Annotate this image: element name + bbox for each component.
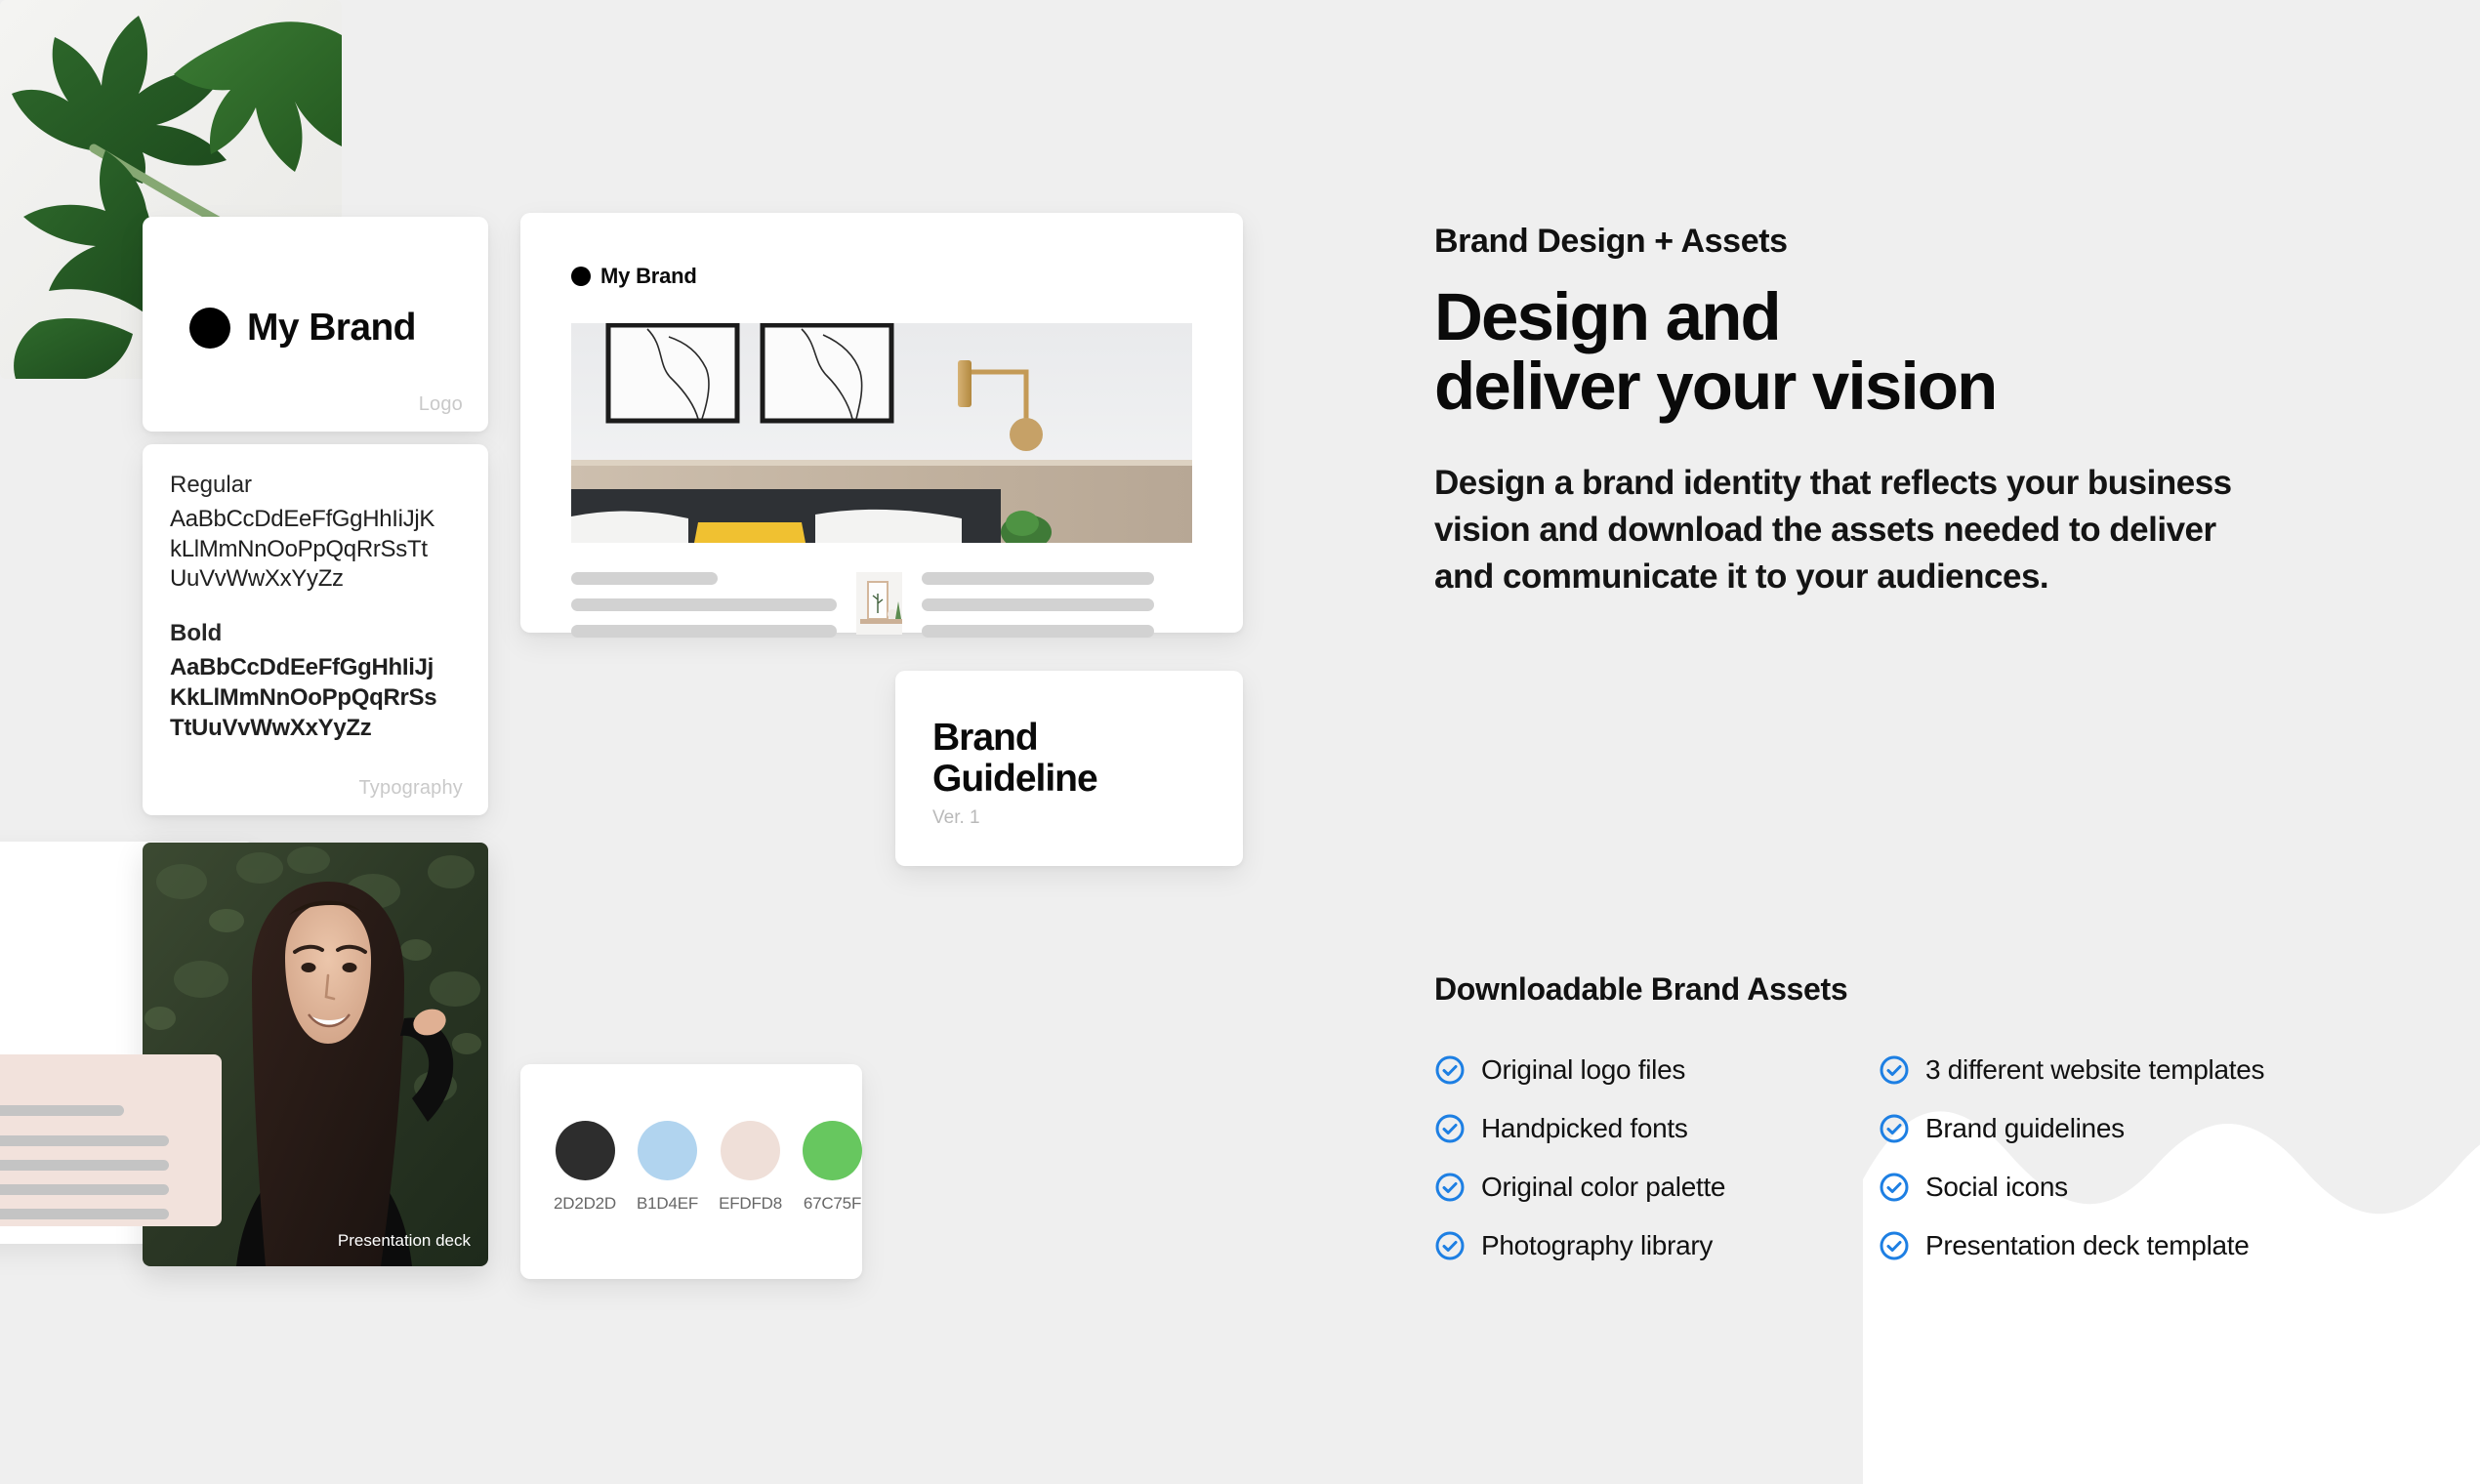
- placeholder-bar: [571, 625, 837, 638]
- swatch-item[interactable]: B1D4EF: [637, 1121, 698, 1214]
- guideline-version: Ver. 1: [932, 807, 980, 829]
- brand-guideline-card[interactable]: Brand Guideline Ver. 1: [895, 671, 1243, 866]
- placeholder-column-right: [922, 572, 1154, 638]
- headline-line-1: Design and: [1434, 282, 2391, 351]
- asset-label: Presentation deck template: [1925, 1230, 2250, 1261]
- guideline-title-line1: Brand: [932, 718, 1097, 759]
- subcopy-text: Design a brand identity that reflects yo…: [1434, 460, 2274, 600]
- specimen-line: KkLlMmNnOoPpQqRrSs: [170, 683, 469, 714]
- presentation-deck-pink-card: [0, 1054, 222, 1226]
- placeholder-bar: [0, 1209, 169, 1219]
- typography-card-label: Typography: [358, 777, 463, 800]
- asset-list-item[interactable]: 3 different website templates: [1879, 1054, 2420, 1086]
- swatch-item[interactable]: 67C75F: [803, 1121, 862, 1214]
- brand-circle-icon: [571, 267, 591, 286]
- color-swatch: [556, 1121, 615, 1180]
- typography-regular-label: Regular: [170, 472, 469, 499]
- page-root: My Brand Logo Regular AaBbCcDdEeFfGgHhIi…: [0, 0, 2480, 1484]
- swatch-hex-label: 2D2D2D: [554, 1194, 616, 1214]
- asset-label: 3 different website templates: [1925, 1054, 2264, 1086]
- check-circle-icon: [1879, 1172, 1910, 1203]
- asset-label: Social icons: [1925, 1172, 2068, 1203]
- swatch-item[interactable]: EFDFD8: [719, 1121, 782, 1214]
- swatch-item[interactable]: 2D2D2D: [554, 1121, 616, 1214]
- placeholder-bar: [922, 625, 1154, 638]
- asset-list-item[interactable]: Social icons: [1879, 1172, 2420, 1203]
- asset-list-item[interactable]: Original logo files: [1434, 1054, 1879, 1086]
- asset-label: Brand guidelines: [1925, 1113, 2125, 1144]
- color-swatch: [803, 1121, 862, 1180]
- typography-regular-specimen: AaBbCcDdEeFfGgHhIiJjK kLlMmNnOoPpQqRrSsT…: [170, 505, 469, 595]
- specimen-line: TtUuVvWwXxYyZz: [170, 714, 469, 744]
- color-palette-card[interactable]: 2D2D2D B1D4EF EFDFD8 67C75F: [520, 1064, 862, 1279]
- hero-text-column: Brand Design + Assets Design and deliver…: [1434, 223, 2391, 600]
- typography-card[interactable]: Regular AaBbCcDdEeFfGgHhIiJjK kLlMmNnOoP…: [143, 444, 488, 815]
- mockup-hero-image: [571, 323, 1192, 543]
- check-circle-icon: [1879, 1113, 1910, 1144]
- placeholder-bar: [0, 1105, 124, 1116]
- mockup-header: My Brand: [571, 264, 697, 289]
- swatch-hex-label: EFDFD8: [719, 1194, 782, 1214]
- asset-label: Original color palette: [1481, 1172, 1725, 1203]
- brand-circle-icon: [189, 308, 230, 349]
- placeholder-bar: [0, 1160, 169, 1171]
- placeholder-bar: [571, 572, 718, 585]
- specimen-line: AaBbCcDdEeFfGgHhIiJjK: [170, 505, 469, 535]
- logo-card[interactable]: My Brand Logo: [143, 217, 488, 432]
- asset-label: Original logo files: [1481, 1054, 1685, 1086]
- asset-list-item[interactable]: Brand guidelines: [1879, 1113, 2420, 1144]
- placeholder-bar: [571, 598, 837, 611]
- check-circle-icon: [1434, 1054, 1466, 1086]
- mockup-brand-name: My Brand: [600, 264, 697, 289]
- check-circle-icon: [1879, 1054, 1910, 1086]
- swatch-hex-label: B1D4EF: [637, 1194, 698, 1214]
- asset-list-item[interactable]: Handpicked fonts: [1434, 1113, 1879, 1144]
- guideline-title: Brand Guideline: [932, 718, 1097, 800]
- color-swatch: [721, 1121, 780, 1180]
- assets-list: Original logo files 3 different website …: [1434, 1054, 2420, 1261]
- logo-lockup: My Brand: [189, 307, 416, 350]
- specimen-line: UuVvWwXxYyZz: [170, 564, 469, 595]
- page-title: Design and deliver your vision: [1434, 282, 2391, 421]
- guideline-title-line2: Guideline: [932, 759, 1097, 800]
- check-circle-icon: [1434, 1113, 1466, 1144]
- swatch-hex-label: 67C75F: [804, 1194, 861, 1214]
- logo-brand-name: My Brand: [247, 307, 416, 350]
- assets-section-title: Downloadable Brand Assets: [1434, 971, 1847, 1008]
- color-swatch: [638, 1121, 697, 1180]
- asset-label: Photography library: [1481, 1230, 1713, 1261]
- swatch-list: 2D2D2D B1D4EF EFDFD8 67C75F: [554, 1121, 862, 1214]
- asset-list-item[interactable]: Presentation deck template: [1879, 1230, 2420, 1261]
- typography-bold-specimen: AaBbCcDdEeFfGgHhIiJj KkLlMmNnOoPpQqRrSs …: [170, 653, 469, 743]
- eyebrow-text: Brand Design + Assets: [1434, 223, 2391, 261]
- placeholder-bar: [922, 598, 1154, 611]
- logo-card-label: Logo: [419, 393, 463, 416]
- typography-bold-label: Bold: [170, 620, 469, 647]
- check-circle-icon: [1434, 1172, 1466, 1203]
- check-circle-icon: [1434, 1230, 1466, 1261]
- presentation-deck-label: Presentation deck: [338, 1231, 471, 1251]
- placeholder-bar: [922, 572, 1154, 585]
- typography-content: Regular AaBbCcDdEeFfGgHhIiJjK kLlMmNnOoP…: [170, 472, 469, 743]
- check-circle-icon: [1879, 1230, 1910, 1261]
- website-mockup-card[interactable]: My Brand: [520, 213, 1243, 633]
- placeholder-bar: [0, 1184, 169, 1195]
- headline-line-2: deliver your vision: [1434, 351, 2391, 421]
- mockup-placeholder-row: [571, 572, 1192, 638]
- asset-list-item[interactable]: Original color palette: [1434, 1172, 1879, 1203]
- placeholder-bar: [0, 1135, 169, 1146]
- asset-list-item[interactable]: Photography library: [1434, 1230, 1879, 1261]
- specimen-line: kLlMmNnOoPpQqRrSsTt: [170, 535, 469, 565]
- asset-label: Handpicked fonts: [1481, 1113, 1688, 1144]
- placeholder-column-left: [571, 572, 837, 638]
- mockup-thumbnail-image: [856, 572, 902, 635]
- specimen-line: AaBbCcDdEeFfGgHhIiJj: [170, 653, 469, 683]
